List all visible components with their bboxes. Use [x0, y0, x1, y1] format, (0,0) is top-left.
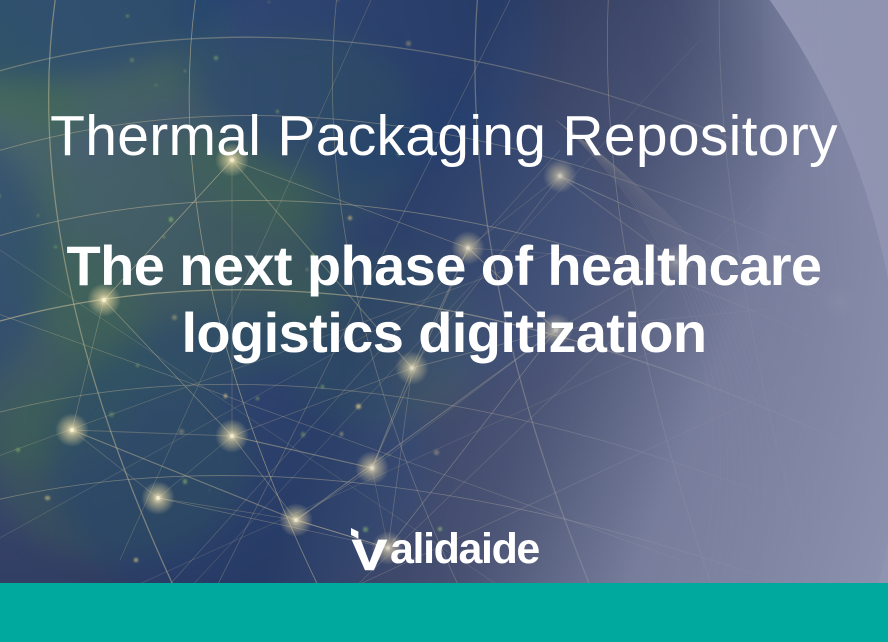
validaide-logo: alidaide — [0, 519, 888, 571]
headline-line-1: The next phase of healthcare — [0, 232, 888, 299]
slide-eyebrow: Thermal Packaging Repository — [0, 104, 888, 168]
slide-canvas: Thermal Packaging Repository The next ph… — [0, 0, 888, 642]
validaide-check-v-icon — [349, 527, 389, 571]
slide-content: Thermal Packaging Repository The next ph… — [0, 0, 888, 583]
footer-teal-band — [0, 583, 888, 642]
validaide-wordmark: alidaide — [390, 527, 539, 571]
headline-line-2: logistics digitization — [0, 299, 888, 366]
slide-headline: The next phase of healthcare logistics d… — [0, 232, 888, 366]
